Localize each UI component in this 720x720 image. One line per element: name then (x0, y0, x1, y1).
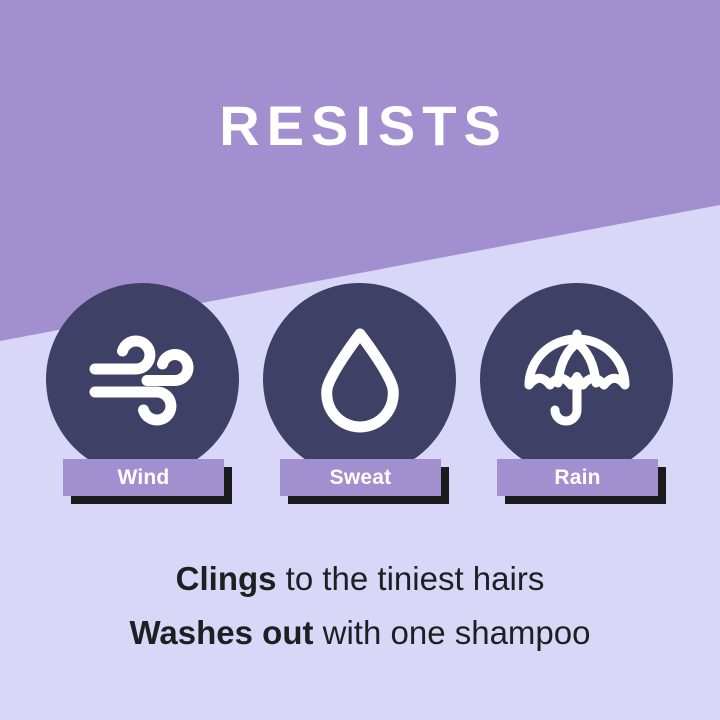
feature-label-wrap: Wind (63, 459, 224, 496)
feature-card-sweat: Sweat (252, 283, 468, 498)
feature-card-wind: Wind (35, 283, 251, 498)
claim-2-rest: with one shampoo (313, 614, 590, 651)
wind-icon (87, 332, 199, 428)
feature-label-rain: Rain (497, 459, 658, 496)
feature-label-sweat: Sweat (280, 459, 441, 496)
claims-block: Clings to the tiniest hairs Washes out w… (0, 552, 720, 660)
icon-circle (46, 283, 239, 476)
feature-label-wrap: Rain (497, 459, 658, 496)
icon-circle (480, 283, 673, 476)
claim-1-emphasis: Clings (176, 560, 277, 597)
claim-line-2: Washes out with one shampoo (0, 606, 720, 660)
page-title: RESISTS (0, 98, 720, 154)
feature-card-rain: Rain (469, 283, 685, 498)
poster-canvas: RESISTS Wind (0, 0, 720, 720)
claim-2-emphasis: Washes out (130, 614, 314, 651)
claim-1-rest: to the tiniest hairs (277, 560, 545, 597)
claim-line-1: Clings to the tiniest hairs (0, 552, 720, 606)
feature-label-wrap: Sweat (280, 459, 441, 496)
umbrella-icon (521, 328, 633, 432)
icon-circle (263, 283, 456, 476)
feature-icon-row: Wind Sweat (0, 283, 720, 498)
droplet-icon (318, 326, 402, 434)
feature-label-wind: Wind (63, 459, 224, 496)
